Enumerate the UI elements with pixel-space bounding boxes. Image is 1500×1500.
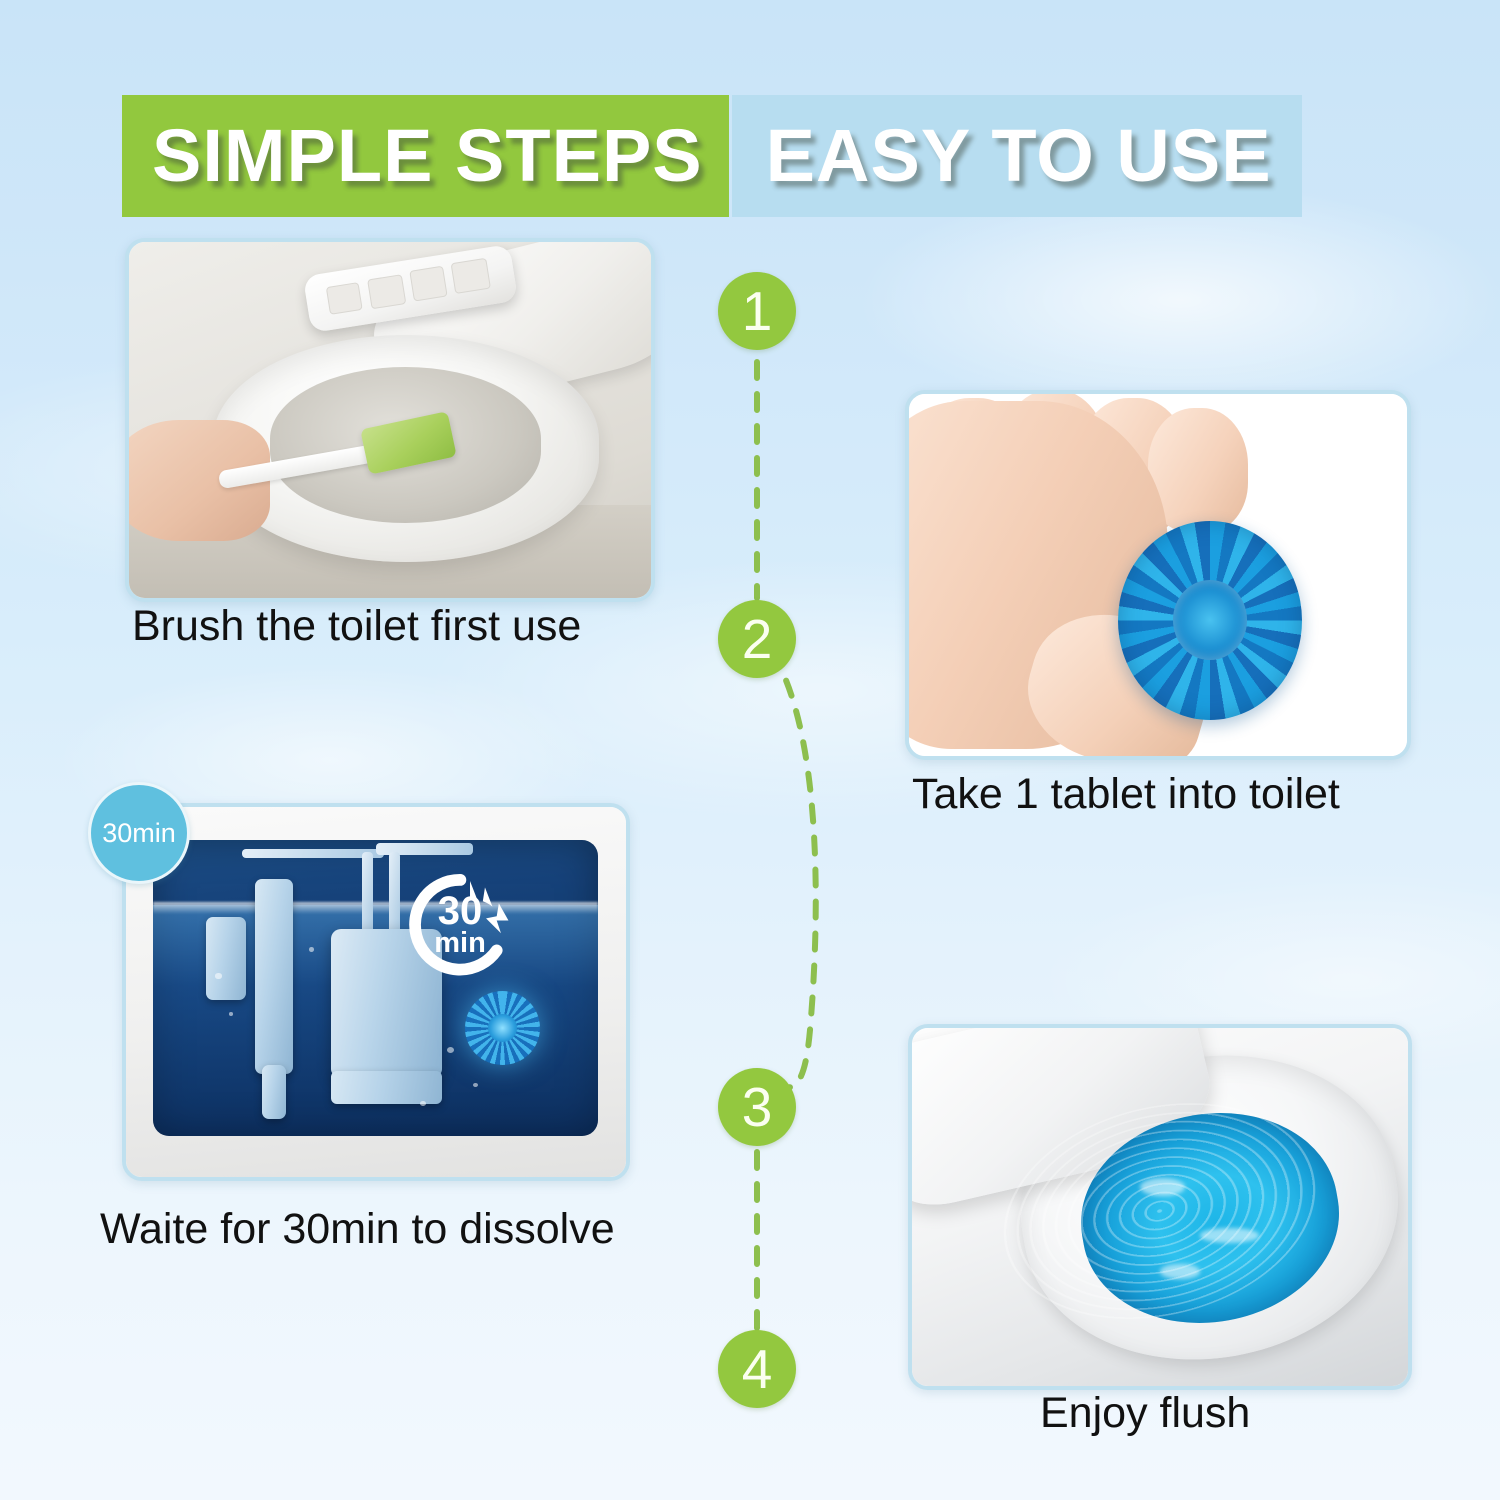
step-marker-4: 4 (718, 1330, 796, 1408)
dissolving-tablet (465, 991, 541, 1065)
header-banner: SIMPLE STEPS EASY TO USE (122, 95, 1302, 217)
header-band-blue: EASY TO USE (732, 95, 1302, 217)
step-connector-path (700, 330, 900, 1390)
header-title-right: EASY TO USE (766, 119, 1272, 193)
step-4-photo-card (908, 1024, 1412, 1390)
step-2-caption: Take 1 tablet into toilet (912, 773, 1340, 816)
step-3-photo-card: 30 min (122, 803, 630, 1181)
step-1-caption: Brush the toilet first use (132, 605, 581, 648)
photo-flushing-bowl (912, 1028, 1408, 1386)
photo-hand-with-tablet (909, 394, 1407, 756)
infographic-root: SIMPLE STEPS EASY TO USE (0, 0, 1500, 1500)
photo-tank-dissolving: 30 min (126, 807, 626, 1177)
timer-value: 30 (438, 893, 483, 930)
header-title-left: SIMPLE STEPS (152, 119, 703, 193)
step-marker-3: 3 (718, 1068, 796, 1146)
step-4-caption: Enjoy flush (1040, 1392, 1250, 1435)
header-band-green: SIMPLE STEPS (122, 95, 729, 217)
timer-unit: min (434, 930, 486, 957)
photo-brush-toilet (129, 242, 651, 598)
step-1-photo-card (125, 238, 655, 602)
blue-tablet (1118, 521, 1302, 720)
wait-time-badge: 30min (88, 782, 190, 884)
timer-30min-icon: 30 min (407, 870, 514, 980)
wait-time-badge-label: 30min (102, 818, 176, 849)
step-2-photo-card (905, 390, 1411, 760)
step-marker-1: 1 (718, 272, 796, 350)
step-3-caption: Waite for 30min to dissolve (100, 1208, 615, 1251)
step-marker-2: 2 (718, 600, 796, 678)
